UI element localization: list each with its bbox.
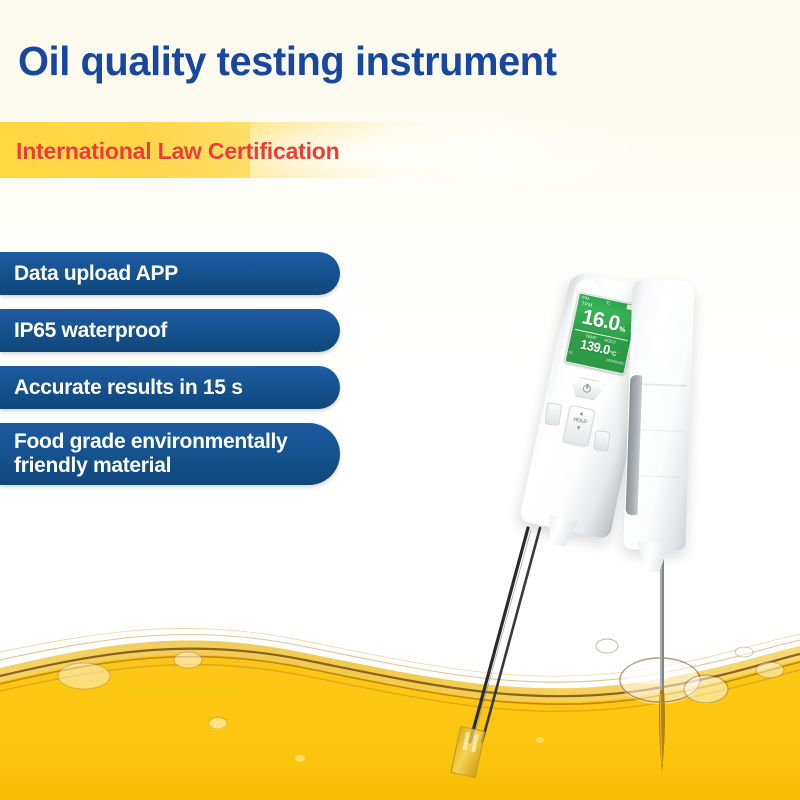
probe-base-rear: [636, 541, 671, 572]
feature-label-line1: Food grade environmentally: [14, 430, 294, 454]
page-title: Oil quality testing instrument: [18, 36, 557, 86]
power-icon: [582, 384, 591, 393]
feature-pill-ip65: IP65 waterproof: [0, 309, 340, 352]
feature-label: IP65 waterproof: [14, 318, 294, 343]
screen-timestamp: 2020/01/01: [606, 358, 624, 366]
feature-pill-food-grade: Food grade environmentally friendly mate…: [0, 423, 340, 485]
product-poster: Oil quality testing instrument Internati…: [0, 0, 800, 800]
feature-label: Accurate results in 15 s: [14, 375, 294, 400]
feature-label-line2: friendly material: [14, 454, 294, 478]
screen-id-label: ID: [569, 350, 573, 355]
tpm-unit: %: [618, 326, 626, 334]
left-side-button[interactable]: [544, 402, 562, 426]
feature-label: Data upload APP: [14, 261, 294, 286]
device-group: TPM °C TPM 16.0 % TEMP HOLD 139.0 °C: [430, 260, 800, 800]
feature-pill-data-upload: Data upload APP: [0, 252, 340, 295]
feature-pill-accuracy: Accurate results in 15 s: [0, 366, 340, 409]
certification-label: International Law Certification: [16, 138, 340, 165]
device-rear-view: [623, 279, 694, 551]
feature-list: Data upload APP IP65 waterproof Accurate…: [0, 252, 360, 499]
right-side-button[interactable]: [593, 430, 611, 452]
